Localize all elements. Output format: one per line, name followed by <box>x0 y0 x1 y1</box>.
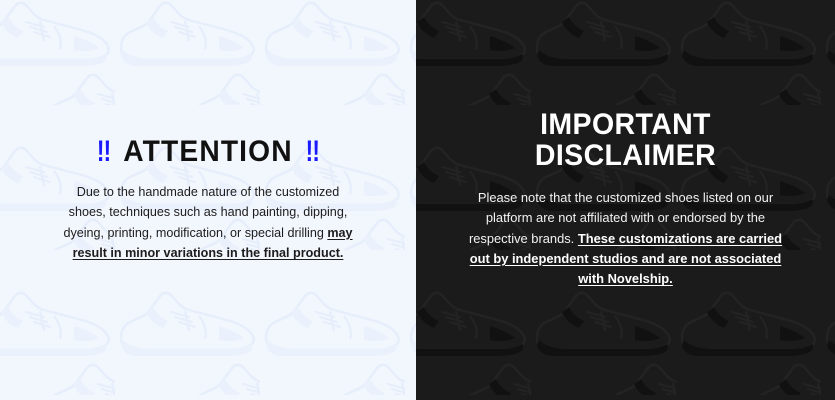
disclaimer-body: Please note that the customized shoes li… <box>467 188 785 290</box>
attention-heading: !!ATTENTION!! <box>26 136 391 168</box>
attention-body: Due to the handmade nature of the custom… <box>58 182 358 264</box>
attention-panel: !!ATTENTION!! Due to the handmade nature… <box>0 0 416 400</box>
exclamation-right-icon: !! <box>303 136 321 168</box>
disclaimer-heading-line1: IMPORTANT <box>440 110 811 141</box>
attention-content: !!ATTENTION!! Due to the handmade nature… <box>0 136 416 263</box>
disclaimer-panel: IMPORTANT DISCLAIMER Please note that th… <box>416 0 835 400</box>
disclaimer-banner: !!ATTENTION!! Due to the handmade nature… <box>0 0 835 400</box>
exclamation-left-icon: !! <box>95 136 113 168</box>
attention-heading-text: ATTENTION <box>115 136 301 168</box>
disclaimer-heading-line2: DISCLAIMER <box>440 141 811 172</box>
disclaimer-heading: IMPORTANT DISCLAIMER <box>440 110 811 172</box>
attention-body-normal: Due to the handmade nature of the custom… <box>63 185 347 240</box>
disclaimer-content: IMPORTANT DISCLAIMER Please note that th… <box>416 110 835 290</box>
